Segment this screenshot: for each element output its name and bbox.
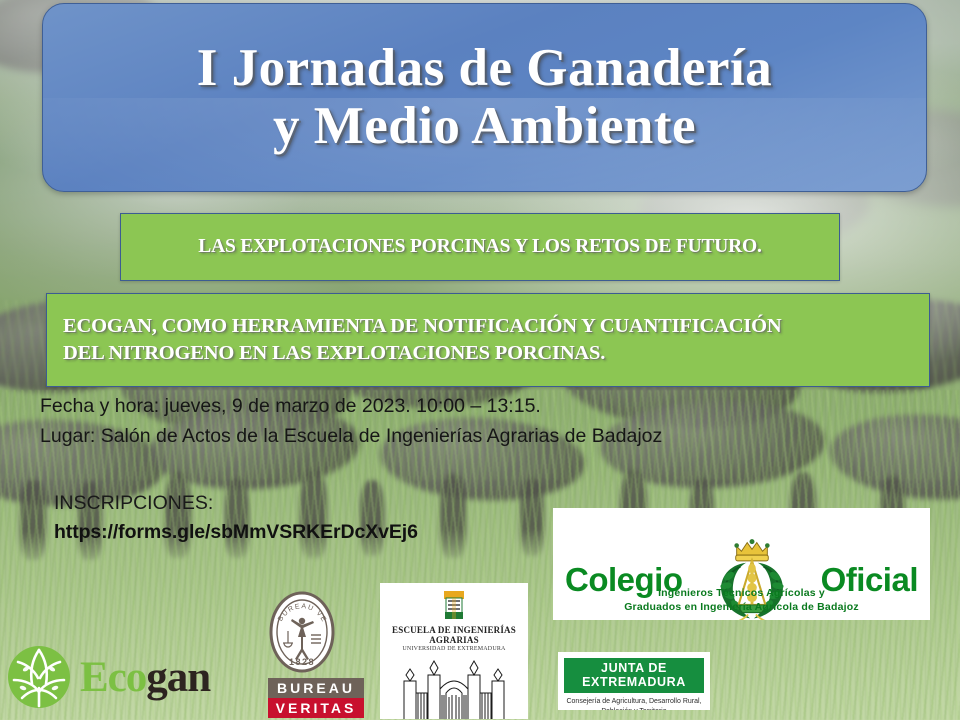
topic-2-text-wrap: ECOGAN, COMO HERRAMIENTA DE NOTIFICACIÓN… bbox=[63, 313, 781, 367]
ecogan-leaf-circle-icon bbox=[6, 644, 72, 710]
junta-subtitle-line-1: Consejería de Agricultura, Desarrollo Ru… bbox=[564, 697, 704, 707]
topic-box-1: LAS EXPLOTACIONES PORCINAS Y LOS RETOS D… bbox=[120, 213, 840, 281]
topic-1-text: LAS EXPLOTACIONES PORCINAS Y LOS RETOS D… bbox=[198, 234, 761, 260]
svg-text:1828: 1828 bbox=[289, 657, 315, 667]
logo-colegio-oficial: Colegio bbox=[553, 508, 930, 620]
topic-box-2: ECOGAN, COMO HERRAMIENTA DE NOTIFICACIÓN… bbox=[46, 293, 930, 387]
event-details: Fecha y hora: jueves, 9 de marzo de 2023… bbox=[40, 392, 720, 451]
bureau-veritas-word-veritas: VERITAS bbox=[268, 698, 364, 718]
colegio-subtitle: Ingenieros Técnicos Agrícolas y Graduado… bbox=[553, 587, 930, 614]
ecogan-wordmark: Ecogan bbox=[80, 656, 210, 699]
uex-crest-icon bbox=[436, 589, 472, 623]
bureau-veritas-word-bureau: BUREAU bbox=[268, 678, 364, 698]
poster-title-line-2: y Medio Ambiente bbox=[273, 98, 696, 155]
escuela-title-line-1: ESCUELA DE INGENIERÍAS AGRARIAS bbox=[380, 625, 528, 645]
colegio-subtitle-line-2: Graduados en Ingeniería Agrícola de Bada… bbox=[553, 601, 930, 614]
event-place: Lugar: Salón de Actos de la Escuela de I… bbox=[40, 422, 720, 452]
junta-bar-label: JUNTA DE EXTREMADURA bbox=[564, 658, 704, 693]
escuela-title-line-2: UNIVERSIDAD DE EXTREMADURA bbox=[380, 646, 528, 652]
junta-subtitle: Consejería de Agricultura, Desarrollo Ru… bbox=[558, 693, 710, 710]
registration-url[interactable]: https://forms.gle/sbMmVSRKErDcXvEj6 bbox=[54, 518, 418, 547]
logo-bureau-veritas: BUREAU VERITAS 1828 bbox=[268, 591, 364, 717]
logo-junta-de-extremadura: JUNTA DE EXTREMADURA Consejería de Agric… bbox=[558, 652, 710, 710]
colegio-subtitle-line-1: Ingenieros Técnicos Agrícolas y bbox=[553, 587, 930, 600]
poster-title-panel: I Jornadas de Ganadería y Medio Ambiente bbox=[42, 3, 927, 192]
logo-escuela-ingenierias-agrarias: ESCUELA DE INGENIERÍAS AGRARIAS UNIVERSI… bbox=[380, 583, 528, 719]
logo-ecogan: Ecogan bbox=[6, 636, 246, 718]
junta-subtitle-line-2: Población y Territorio bbox=[564, 707, 704, 710]
topic-2-line-1: ECOGAN, COMO HERRAMIENTA DE NOTIFICACIÓN… bbox=[63, 313, 781, 340]
poster-title-line-1: I Jornadas de Ganadería bbox=[197, 40, 772, 97]
bureau-veritas-seal-icon: BUREAU VERITAS 1828 bbox=[268, 591, 336, 673]
escuela-gate-illustration bbox=[394, 655, 514, 719]
ecogan-word-eco: Eco bbox=[80, 654, 146, 701]
topic-2-line-2: DEL NITROGENO EN LAS EXPLOTACIONES PORCI… bbox=[63, 340, 781, 367]
registration-label: INSCRIPCIONES: bbox=[54, 489, 418, 518]
ecogan-word-gan: gan bbox=[146, 654, 210, 701]
poster-root: I Jornadas de Ganadería y Medio Ambiente… bbox=[0, 0, 960, 720]
registration-block: INSCRIPCIONES: https://forms.gle/sbMmVSR… bbox=[54, 489, 418, 548]
event-date-time: Fecha y hora: jueves, 9 de marzo de 2023… bbox=[40, 392, 720, 422]
